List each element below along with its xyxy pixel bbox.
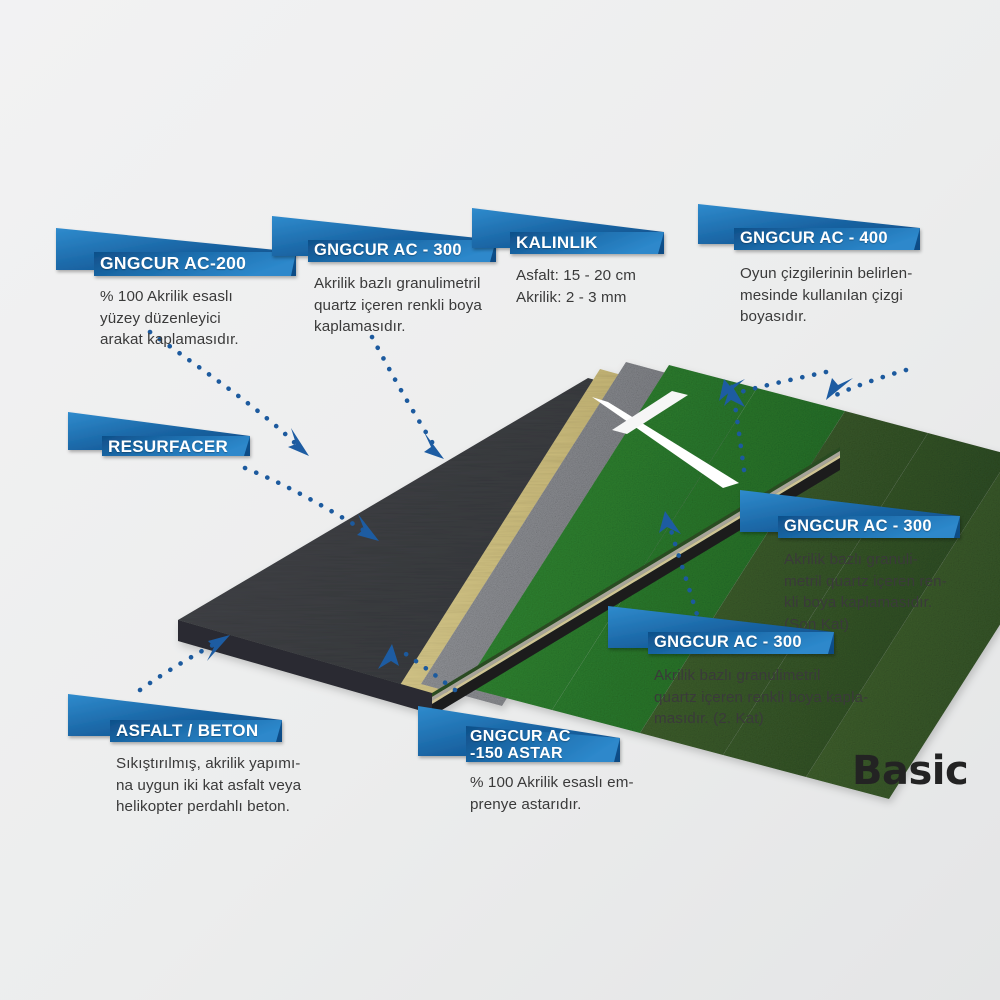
banner-kalinlik: KALINLIK [466,204,716,260]
callout-body: Asfalt: 15 - 20 cm Akrilik: 2 - 3 mm [516,265,716,308]
banner-label: KALINLIK [516,234,598,252]
banner-gngcur-ac-150-astar: GNGCUR AC -150 ASTAR [414,700,685,768]
callout-kalinlik[interactable]: KALINLIK Asfalt: 15 - 20 cm Akrilik: 2 -… [466,204,716,308]
callout-body: Sıkıştırılmış, akrilik yapımı- na uygun … [116,753,360,818]
callout-body: Akrilik bazlı granulimetril quartz içere… [654,665,912,730]
callout-gngcur-ac-150-astar[interactable]: GNGCUR AC -150 ASTAR % 100 Akrilik esasl… [414,700,685,815]
callout-body: Oyun çizgilerinin belirlen- mesinde kull… [740,263,964,328]
banner-label: GNGCUR AC - 300 [784,518,932,536]
banner-label: GNGCUR AC - 300 [314,242,462,260]
banner-label: RESURFACER [108,438,228,456]
banner-label: GNGCUR AC -150 ASTAR [470,728,571,763]
callout-body: % 100 Akrilik esaslı em- prenye astarıdı… [470,772,685,815]
product-wordmark: Basic [852,748,968,794]
banner-resurfacer: RESURFACER [62,406,250,464]
banner-label: GNGCUR AC - 300 [654,634,802,652]
banner-label: GNGCUR AC - 400 [740,230,888,248]
banner-label: GNGCUR AC-200 [100,254,246,273]
banner-asfalt-beton: ASFALT / BETON [64,690,360,748]
callout-resurfacer[interactable]: RESURFACER [62,406,250,464]
infographic-canvas: GNGCUR AC-200 % 100 Akrilik esaslı yüzey… [0,0,1000,1000]
banner-label: ASFALT / BETON [116,722,258,740]
banner-gngcur-ac-300-2-kat: GNGCUR AC - 300 [604,602,912,660]
callout-asfalt-beton[interactable]: ASFALT / BETON Sıkıştırılmış, akrilik ya… [64,690,360,818]
banner-gngcur-ac-300-son-kat: GNGCUR AC - 300 [736,484,999,544]
banner-gngcur-ac-400: GNGCUR AC - 400 [692,200,964,258]
callout-gngcur-ac-400[interactable]: GNGCUR AC - 400 Oyun çizgilerinin belirl… [692,200,964,328]
